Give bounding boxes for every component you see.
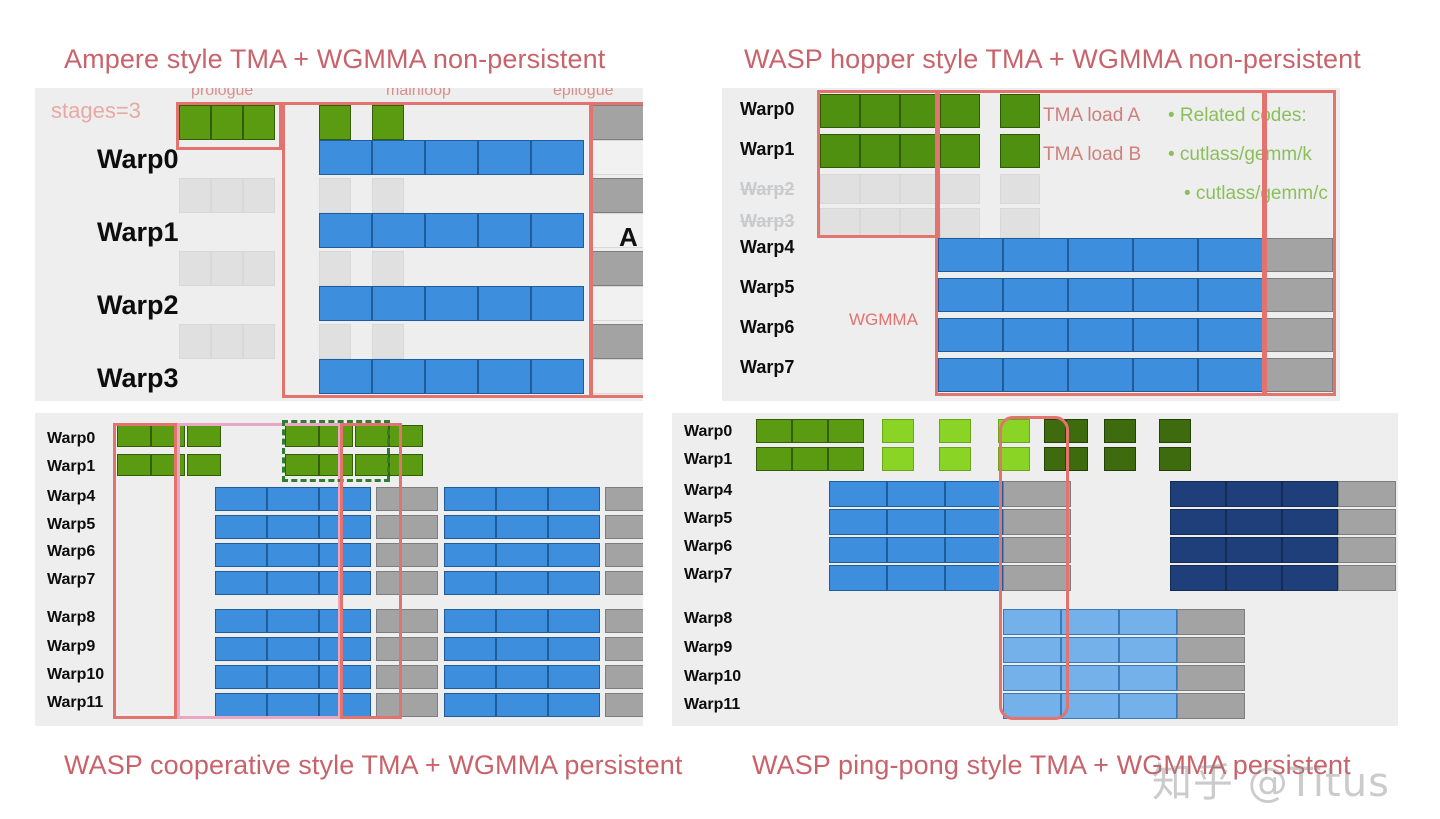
warp-label-warp5: Warp5 xyxy=(740,278,794,296)
epilogue-segment xyxy=(605,515,643,539)
mma-segment xyxy=(548,543,600,567)
warp-label-warp0: Warp0 xyxy=(97,146,179,173)
phase-label-prologue: prologue xyxy=(191,88,253,100)
warp-label-warp7: Warp7 xyxy=(740,358,794,376)
ghost-segment xyxy=(243,324,275,359)
mma-segment xyxy=(444,487,496,511)
pingpong-sync-bracket xyxy=(999,416,1069,720)
epilogue-segment xyxy=(1177,609,1245,635)
panel-pingpong: Warp0 Warp1 Warp4 Warp5 Warp6 Warp7 Warp… xyxy=(672,413,1398,726)
warp-label-warp4: Warp4 xyxy=(47,489,95,505)
load-segment-dark xyxy=(1066,447,1088,471)
mma-segment xyxy=(444,693,496,717)
warp-label-warp0: Warp0 xyxy=(684,424,732,440)
wgmma-label: WGMMA xyxy=(849,310,918,330)
mma-segment xyxy=(945,565,1003,591)
mma-segment-light xyxy=(1061,609,1119,635)
mma-segment xyxy=(829,565,887,591)
warp-label-warp5: Warp5 xyxy=(47,517,95,533)
mma-segment-light xyxy=(1119,693,1177,719)
mma-segment-dark xyxy=(1282,537,1338,563)
warp-label-warp4: Warp4 xyxy=(684,483,732,499)
ghost-segment xyxy=(211,251,243,286)
prologue-bracket xyxy=(817,90,940,238)
mma-segment-dark xyxy=(1226,537,1282,563)
mma-segment-dark xyxy=(1170,509,1226,535)
warp-label-warp9: Warp9 xyxy=(684,640,732,656)
load-segment xyxy=(756,447,792,471)
mma-segment xyxy=(887,565,945,591)
warp-label-warp6: Warp6 xyxy=(740,318,794,336)
mma-segment-light xyxy=(1119,665,1177,691)
warp-label-warp2: Warp2 xyxy=(97,292,179,319)
mma-segment xyxy=(496,637,548,661)
load-segment-dark xyxy=(1104,419,1136,443)
load-segment xyxy=(792,447,828,471)
prologue-bracket xyxy=(176,102,282,150)
mma-segment-light xyxy=(1119,609,1177,635)
producer-bracket xyxy=(113,423,177,719)
mma-segment-light xyxy=(1061,693,1119,719)
warp-label-warp1: Warp1 xyxy=(740,140,794,158)
mma-segment xyxy=(444,543,496,567)
mma-segment xyxy=(444,637,496,661)
mma-segment xyxy=(945,509,1003,535)
mma-segment xyxy=(444,665,496,689)
warp-label-warp3: Warp3 xyxy=(97,365,179,392)
mma-segment xyxy=(496,609,548,633)
mma-segment-light xyxy=(1061,665,1119,691)
mma-segment xyxy=(548,515,600,539)
mma-segment xyxy=(548,637,600,661)
warp-label-warp2: Warp2 xyxy=(740,180,794,198)
mma-segment xyxy=(887,509,945,535)
warp-label-warp7: Warp7 xyxy=(47,572,95,588)
title-ampere: Ampere style TMA + WGMMA non-persistent xyxy=(64,44,605,75)
warp-label-warp8: Warp8 xyxy=(684,611,732,627)
mma-segment xyxy=(496,693,548,717)
mma-segment-light xyxy=(1119,637,1177,663)
load-segment-dark xyxy=(1159,447,1191,471)
mainloop-bracket xyxy=(282,102,593,398)
load-segment xyxy=(792,419,828,443)
warp-label-warp0: Warp0 xyxy=(740,100,794,118)
epilogue-segment xyxy=(1338,481,1396,507)
warp-label-warp11: Warp11 xyxy=(47,695,103,711)
mma-segment xyxy=(548,693,600,717)
ghost-segment xyxy=(179,178,211,213)
warp-label-warp9: Warp9 xyxy=(47,639,95,655)
mma-segment-dark xyxy=(1226,481,1282,507)
load-segment-dark xyxy=(1104,447,1136,471)
mma-segment-dark xyxy=(1226,565,1282,591)
ghost-segment xyxy=(179,324,211,359)
load-segment-light xyxy=(882,447,914,471)
mma-segment-dark xyxy=(1170,481,1226,507)
load-segment-light xyxy=(882,419,914,443)
ghost-segment xyxy=(211,178,243,213)
mma-segment xyxy=(496,515,548,539)
epilogue-segment xyxy=(605,571,643,595)
warp-label-warp7: Warp7 xyxy=(684,567,732,583)
warp-label-warp4: Warp4 xyxy=(740,238,794,256)
load-segment xyxy=(828,419,864,443)
mma-segment xyxy=(945,537,1003,563)
mma-segment xyxy=(444,609,496,633)
epilogue-segment xyxy=(605,693,643,717)
mma-segment xyxy=(829,481,887,507)
stages-label: stages=3 xyxy=(51,98,141,124)
warp-label-warp6: Warp6 xyxy=(47,544,95,560)
mma-segment-dark xyxy=(1282,565,1338,591)
mma-segment-dark xyxy=(1226,509,1282,535)
ghost-segment xyxy=(211,324,243,359)
ghost-segment xyxy=(243,251,275,286)
panel-ampere: stages=3 prologue mainloop epilogue Warp… xyxy=(35,88,643,401)
load-segment-dark xyxy=(1159,419,1191,443)
panel-hopper: Warp0 Warp1 Warp2 Warp3 Warp4 Warp5 Warp… xyxy=(722,88,1340,401)
warp-label-warp10: Warp10 xyxy=(47,667,104,683)
mma-segment xyxy=(829,537,887,563)
load-segment-dark xyxy=(1066,419,1088,443)
epilogue-bracket xyxy=(340,423,402,719)
slide-root: Ampere style TMA + WGMMA non-persistent … xyxy=(0,0,1440,819)
mma-segment-dark xyxy=(1282,481,1338,507)
warp-label-warp10: Warp10 xyxy=(684,669,741,685)
title-cooperative: WASP cooperative style TMA + WGMMA persi… xyxy=(64,750,682,781)
epilogue-segment xyxy=(605,637,643,661)
epilogue-segment xyxy=(1338,565,1396,591)
phase-label-mainloop: mainloop xyxy=(386,88,451,100)
load-segment xyxy=(756,419,792,443)
ghost-segment xyxy=(179,251,211,286)
mma-segment xyxy=(496,543,548,567)
mma-segment xyxy=(496,571,548,595)
load-segment xyxy=(828,447,864,471)
load-segment-light xyxy=(939,447,971,471)
warp-label-warp5: Warp5 xyxy=(684,511,732,527)
epilogue-segment xyxy=(1177,665,1245,691)
mma-segment xyxy=(548,609,600,633)
mma-segment xyxy=(945,481,1003,507)
mma-segment-light xyxy=(1061,637,1119,663)
epilogue-segment xyxy=(1177,637,1245,663)
epilogue-segment xyxy=(1177,693,1245,719)
epilogue-segment xyxy=(605,609,643,633)
mma-segment xyxy=(887,537,945,563)
phase-label-epilogue: epilogue xyxy=(553,88,614,100)
panel-cooperative: Warp0 Warp1 Warp4 Warp5 Warp6 Warp7 Warp… xyxy=(35,413,643,726)
mma-segment xyxy=(548,665,600,689)
load-segment-light xyxy=(939,419,971,443)
mma-segment xyxy=(444,571,496,595)
warp-label-warp8: Warp8 xyxy=(47,610,95,626)
watermark: 知乎 @Titus xyxy=(1152,750,1390,808)
epilogue-bracket xyxy=(1262,90,1336,396)
mma-segment xyxy=(829,509,887,535)
warp-label-warp1: Warp1 xyxy=(47,459,95,475)
mma-segment-dark xyxy=(1282,509,1338,535)
ghost-segment xyxy=(243,178,275,213)
mma-segment xyxy=(496,665,548,689)
warp-label-warp1: Warp1 xyxy=(684,452,732,468)
mainloop-bracket xyxy=(935,90,1267,396)
side-letter-a: A xyxy=(619,222,638,253)
title-hopper: WASP hopper style TMA + WGMMA non-persis… xyxy=(744,44,1361,75)
epilogue-segment xyxy=(605,487,643,511)
mma-segment xyxy=(548,487,600,511)
warp-label-warp6: Warp6 xyxy=(684,539,732,555)
warp-label-warp3: Warp3 xyxy=(740,212,794,230)
mma-segment xyxy=(887,481,945,507)
mma-segment xyxy=(548,571,600,595)
epilogue-segment xyxy=(1338,509,1396,535)
mma-segment-dark xyxy=(1170,537,1226,563)
mma-segment xyxy=(444,515,496,539)
warp-label-warp11: Warp11 xyxy=(684,697,740,713)
warp-label-warp1: Warp1 xyxy=(97,219,179,246)
epilogue-segment xyxy=(605,543,643,567)
warp-label-warp0: Warp0 xyxy=(47,431,95,447)
epilogue-segment xyxy=(605,665,643,689)
epilogue-segment xyxy=(1338,537,1396,563)
mma-segment xyxy=(496,487,548,511)
mma-segment-dark xyxy=(1170,565,1226,591)
